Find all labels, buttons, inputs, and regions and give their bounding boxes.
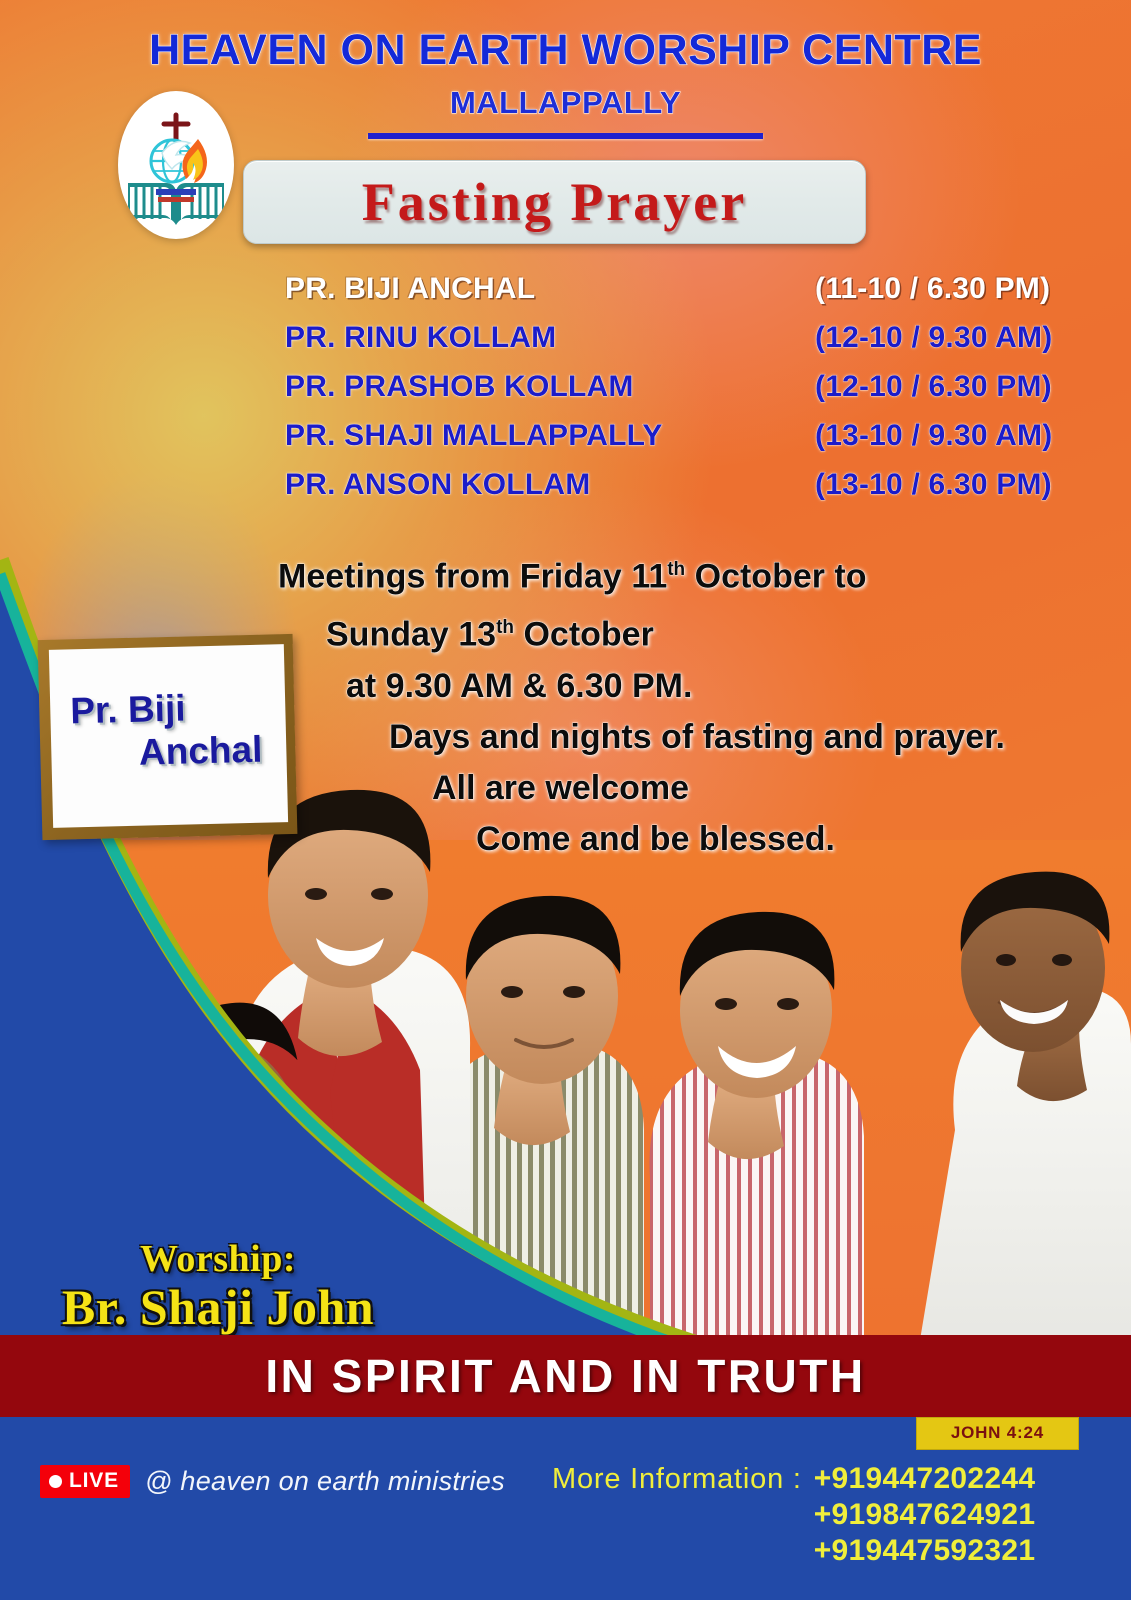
details-line-1-sup: th	[667, 559, 685, 580]
contact-numbers: +919447202244 +919847624921 +91944759232…	[814, 1461, 1036, 1569]
details-line-1a: Meetings from Friday 11	[278, 557, 667, 595]
nameplate-line-2: Anchal	[61, 727, 275, 775]
details-line-1b: October to	[685, 557, 866, 595]
speaker-name: PR. BIJI ANCHAL	[285, 272, 535, 306]
speaker-name: PR. SHAJI MALLAPPALLY	[285, 419, 663, 453]
details-line-2b: October	[514, 616, 654, 654]
speaker-schedule: (12-10 / 9.30 AM)	[815, 321, 1085, 355]
contact-label: More Information :	[552, 1461, 802, 1496]
nameplate-line-1: Pr. Biji	[60, 684, 274, 732]
event-title-plate: Fasting Prayer	[243, 160, 866, 244]
speaker-row: PR. BIJI ANCHAL (11-10 / 6.30 PM)	[285, 272, 1085, 321]
speaker-row: PR. RINU KOLLAM (12-10 / 9.30 AM)	[285, 321, 1085, 370]
event-title: Fasting Prayer	[362, 171, 747, 233]
speaker-schedule: (13-10 / 9.30 AM)	[815, 419, 1085, 453]
speaker-row: PR. SHAJI MALLAPPALLY (13-10 / 9.30 AM)	[285, 419, 1085, 468]
contact-phone[interactable]: +919847624921	[814, 1497, 1036, 1533]
details-line-4: Days and nights of fasting and prayer.	[389, 712, 1131, 763]
details-line-1: Meetings from Friday 11th October to	[278, 544, 1131, 602]
speaker-name: PR. ANSON KOLLAM	[285, 468, 590, 502]
speaker-schedule: (13-10 / 6.30 PM)	[815, 468, 1085, 502]
speaker-schedule: (12-10 / 6.30 PM)	[815, 370, 1085, 404]
main-speaker-nameplate: Pr. Biji Anchal	[38, 634, 298, 840]
worship-label: Worship:	[18, 1237, 418, 1281]
live-label: LIVE	[69, 1469, 119, 1493]
live-stream-row: LIVE @ heaven on earth ministries	[40, 1465, 505, 1498]
theme-banner: IN SPIRIT AND IN TRUTH	[0, 1335, 1131, 1417]
contact-phone[interactable]: +919447202244	[814, 1461, 1036, 1497]
worship-leader-name: Br. Shaji John	[18, 1278, 418, 1336]
theme-text: IN SPIRIT AND IN TRUTH	[265, 1349, 865, 1403]
poster-root: HEAVEN ON EARTH WORSHIP CENTRE MALLAPPAL…	[0, 0, 1131, 1600]
church-logo	[118, 91, 234, 239]
speaker-schedule: (11-10 / 6.30 PM)	[815, 272, 1085, 306]
header-divider	[368, 133, 763, 139]
open-book-globe-dove-flame-cross-icon	[118, 91, 234, 239]
details-line-3: at 9.30 AM & 6.30 PM.	[346, 661, 1131, 712]
details-line-2-sup: th	[496, 617, 514, 638]
details-line-5: All are welcome	[432, 763, 1131, 814]
details-line-6: Come and be blessed.	[476, 814, 1131, 865]
details-line-2a: Sunday 13	[326, 616, 496, 654]
speaker-row: PR. ANSON KOLLAM (13-10 / 6.30 PM)	[285, 468, 1085, 517]
contact-block: More Information : +919447202244 +919847…	[552, 1461, 1035, 1569]
social-handle[interactable]: @ heaven on earth ministries	[145, 1466, 505, 1497]
nameplate-inner: Pr. Biji Anchal	[49, 644, 288, 828]
verse-badge: JOHN 4:24	[916, 1417, 1079, 1450]
speaker-name: PR. RINU KOLLAM	[285, 321, 556, 355]
speaker-schedule-list: PR. BIJI ANCHAL (11-10 / 6.30 PM) PR. RI…	[285, 272, 1085, 517]
live-badge: LIVE	[40, 1465, 130, 1498]
contact-phone[interactable]: +919447592321	[814, 1533, 1036, 1569]
record-dot-icon	[49, 1475, 62, 1488]
speaker-name: PR. PRASHOB KOLLAM	[285, 370, 634, 404]
worship-credit: Worship: Br. Shaji John	[18, 1237, 418, 1336]
church-name: HEAVEN ON EARTH WORSHIP CENTRE	[0, 26, 1131, 75]
speaker-row: PR. PRASHOB KOLLAM (12-10 / 6.30 PM)	[285, 370, 1085, 419]
details-line-2: Sunday 13th October	[326, 602, 1131, 660]
